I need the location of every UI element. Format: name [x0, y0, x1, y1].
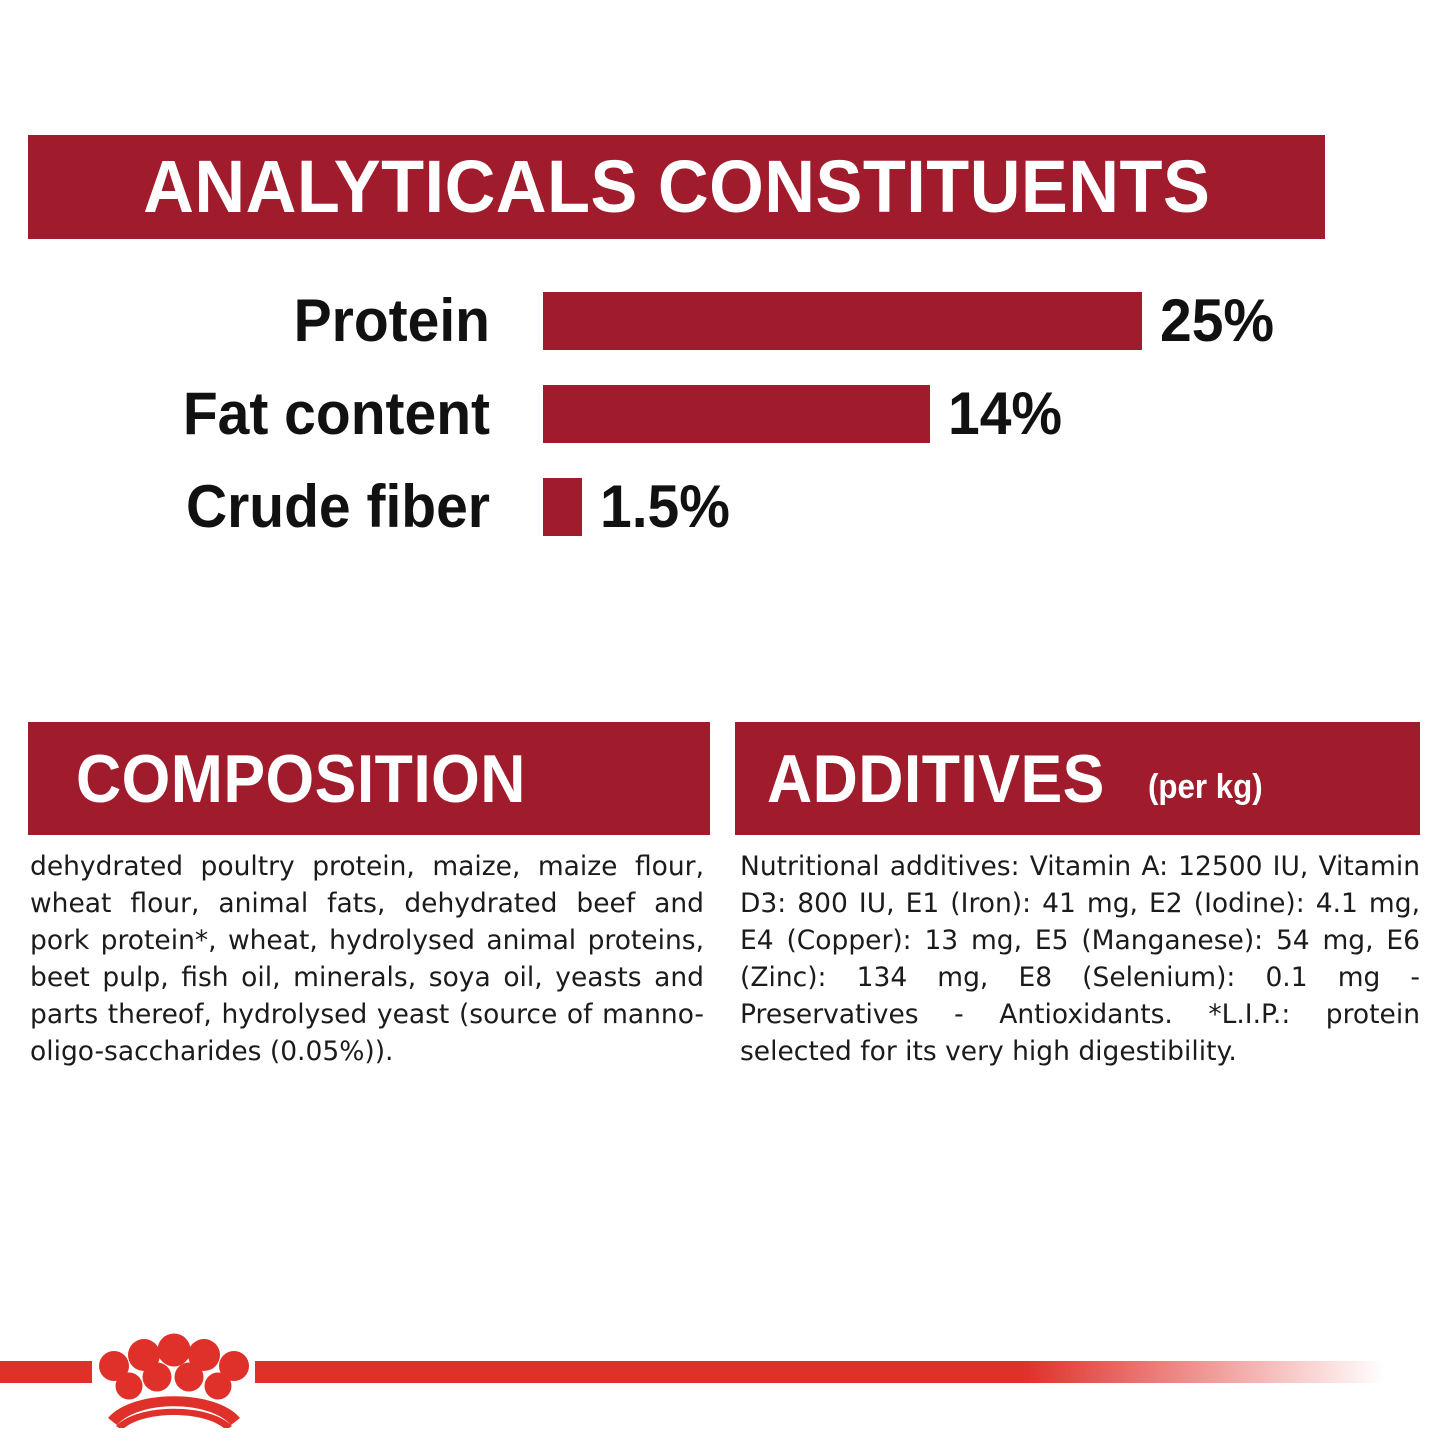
- chart-row-fat-content: Fat content 14%: [0, 378, 1445, 450]
- composition-banner: COMPOSITION: [28, 722, 710, 835]
- analyticals-constituents-banner: ANALYTICALS CONSTITUENTS: [28, 135, 1325, 239]
- chart-value-protein: 25%: [1160, 291, 1274, 351]
- chart-row-crude-fiber: Crude fiber 1.5%: [0, 471, 1445, 543]
- composition-title: COMPOSITION: [76, 745, 526, 813]
- chart-label-fat-content: Fat content: [25, 384, 491, 444]
- chart-label-protein: Protein: [25, 291, 491, 351]
- analyticals-constituents-title: ANALYTICALS CONSTITUENTS: [143, 150, 1210, 224]
- chart-bar-fat-content: [543, 385, 930, 443]
- footer-rule-left: [0, 1361, 92, 1383]
- chart-value-fat-content: 14%: [948, 384, 1062, 444]
- chart-bar-zone-crude-fiber: 1.5%: [543, 471, 1445, 543]
- footer-rule-right: [255, 1361, 1385, 1383]
- additives-text: Nutritional additives: Vitamin A: 12500 …: [740, 848, 1420, 1070]
- footer-brand-bar: [0, 1338, 1445, 1438]
- chart-value-crude-fiber: 1.5%: [600, 477, 730, 537]
- chart-label-crude-fiber: Crude fiber: [25, 477, 491, 537]
- chart-bar-protein: [543, 292, 1142, 350]
- additives-title: ADDITIVES: [767, 745, 1105, 813]
- additives-subtitle: (per kg): [1148, 770, 1263, 804]
- additives-banner: ADDITIVES (per kg): [735, 722, 1420, 835]
- chart-row-protein: Protein 25%: [0, 285, 1445, 357]
- analyticals-constituents-chart: Protein 25% Fat content 14% Crude fiber …: [0, 285, 1445, 555]
- chart-bar-zone-fat-content: 14%: [543, 378, 1445, 450]
- royal-canin-crown-icon: [98, 1326, 250, 1428]
- composition-text: dehydrated poultry protein, maize, maize…: [30, 848, 704, 1070]
- chart-bar-zone-protein: 25%: [543, 285, 1445, 357]
- chart-bar-crude-fiber: [543, 478, 582, 536]
